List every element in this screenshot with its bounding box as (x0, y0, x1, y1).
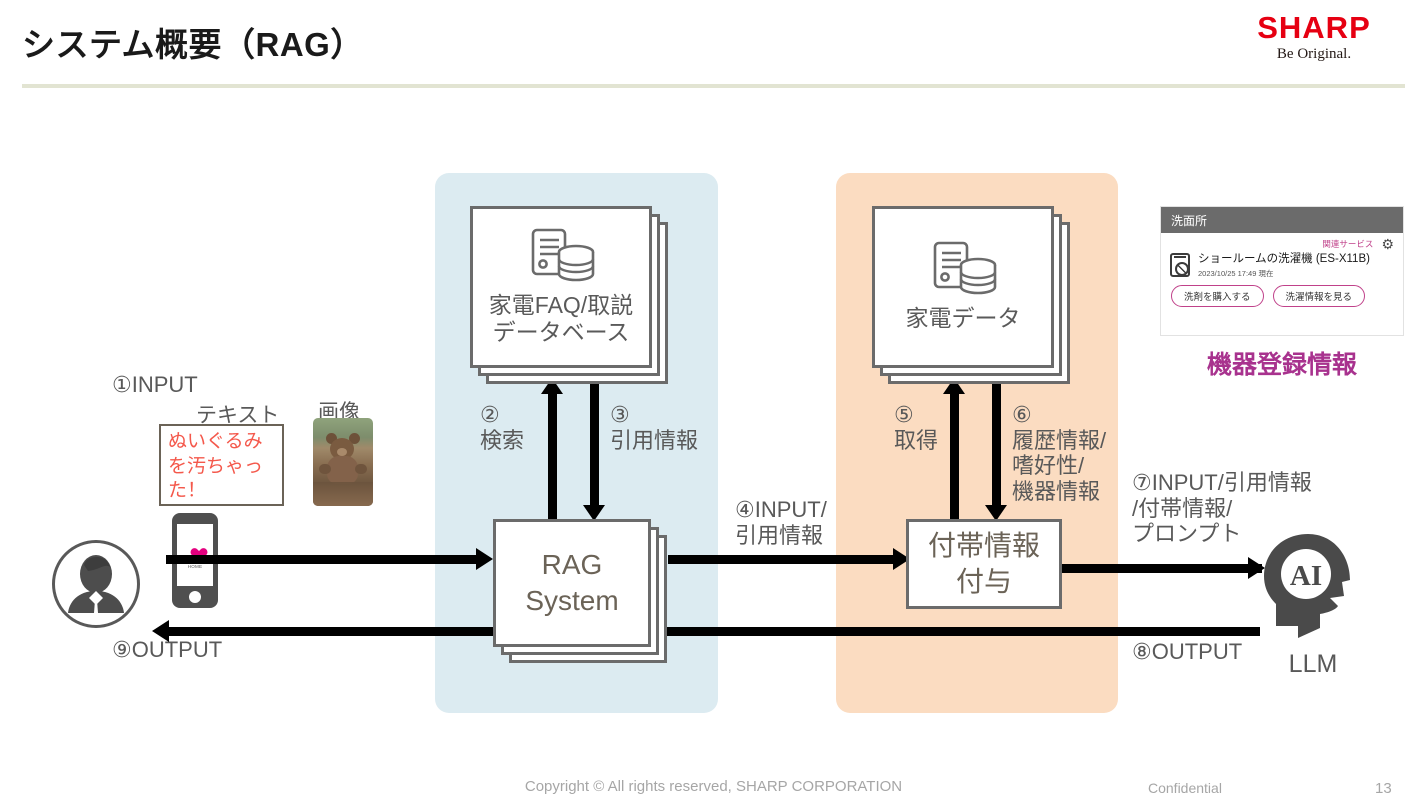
faq-database-label: 家電FAQ/取説 データベース (489, 292, 633, 346)
washing-machine-icon (1170, 253, 1190, 277)
arrow-rag-to-user (168, 627, 493, 636)
label-flow-2: ② 検索 (480, 402, 524, 453)
sharp-logo: SHARP Be Original. (1229, 12, 1399, 63)
ai-head-glyph: AI (1258, 530, 1368, 642)
device-name: ショールームの洗濯機 (ES-X11B) (1198, 252, 1370, 266)
database-icon (524, 228, 598, 286)
label-flow-4: ④INPUT/ 引用情報 (735, 497, 827, 548)
user-text-input-box: ぬいぐるみを汚ちゃった！ (159, 424, 284, 506)
label-flow-6: ⑥ 履歴情報/ 嗜好性/ 機器情報 (1012, 402, 1106, 505)
device-registration-card: 洗面所 関連サービス ⚙ ショールームの洗濯機 (ES-X11B) 2023/1… (1161, 207, 1403, 335)
arrowhead-rag-to-user (152, 620, 169, 642)
arrow-llm-to-rag (660, 627, 1260, 636)
label-flow-3: ③ 引用情報 (610, 402, 698, 453)
label-flow-5: ⑤ 取得 (894, 402, 938, 453)
arrow-attach-to-llm (1062, 564, 1262, 573)
user-avatar (52, 540, 140, 628)
slide-canvas: システム概要（RAG） SHARP Be Original. ①INPUT テキ… (0, 0, 1427, 803)
teddy-bear-photo (313, 418, 373, 506)
device-card-buttons: 洗剤を購入する 洗濯情報を見る (1161, 279, 1403, 307)
arrow-citation-down (590, 384, 599, 508)
label-input-step1: ①INPUT (112, 372, 198, 398)
arrowhead-user-to-rag (476, 548, 493, 570)
arrow-rag-to-attach (668, 555, 898, 564)
device-card-toolbar: 関連サービス ⚙ (1161, 233, 1403, 251)
llm-ai-head-icon: AI (1258, 530, 1368, 642)
sharp-tagline: Be Original. (1229, 46, 1399, 63)
heart-icon (188, 541, 203, 555)
rag-system-label: RAG System (525, 547, 618, 620)
card-sheet-front: RAG System (493, 519, 651, 647)
device-registration-caption: 機器登録情報 (1161, 345, 1403, 381)
label-flow-8: ⑧OUTPUT (1132, 639, 1242, 665)
faq-database-card: 家電FAQ/取説 データベース (470, 206, 668, 384)
phone-home-button (189, 591, 201, 603)
arrow-search-up (548, 390, 557, 520)
appliance-data-card: 家電データ (872, 206, 1070, 384)
card-sheet-front: 家電FAQ/取説 データベース (470, 206, 652, 368)
app-name-line2: HOME (188, 564, 203, 569)
device-card-text: ショールームの洗濯機 (ES-X11B) 2023/10/25 17:49 現在 (1198, 252, 1370, 279)
card-sheet-front: 家電データ (872, 206, 1054, 368)
person-icon (55, 543, 137, 625)
view-laundry-info-button[interactable]: 洗濯情報を見る (1273, 285, 1366, 307)
header-divider (22, 84, 1405, 88)
attach-info-label: 付帯情報 付与 (928, 528, 1040, 601)
arrow-history-down (992, 384, 1001, 508)
device-card-room: 洗面所 (1161, 207, 1403, 233)
footer-page-number: 13 (1375, 780, 1392, 797)
related-service-link[interactable]: 関連サービス (1322, 238, 1373, 250)
footer-confidential: Confidential (1148, 780, 1222, 796)
page-title: システム概要（RAG） (22, 18, 364, 66)
gear-icon[interactable]: ⚙ (1381, 237, 1394, 251)
ai-badge-text: AI (1290, 560, 1322, 592)
sharp-wordmark: SHARP (1229, 12, 1399, 45)
attach-info-box: 付帯情報 付与 (906, 519, 1062, 609)
device-timestamp: 2023/10/25 17:49 現在 (1198, 268, 1370, 279)
arrow-user-to-rag (166, 555, 476, 564)
database-icon (926, 241, 1000, 299)
device-card-main: ショールームの洗濯機 (ES-X11B) 2023/10/25 17:49 現在 (1161, 251, 1403, 279)
buy-detergent-button[interactable]: 洗剤を購入する (1171, 285, 1264, 307)
arrow-fetch-up (950, 390, 959, 520)
appliance-data-label: 家電データ (906, 305, 1021, 332)
rag-system-box: RAG System (493, 519, 667, 663)
llm-label: LLM (1258, 650, 1368, 679)
